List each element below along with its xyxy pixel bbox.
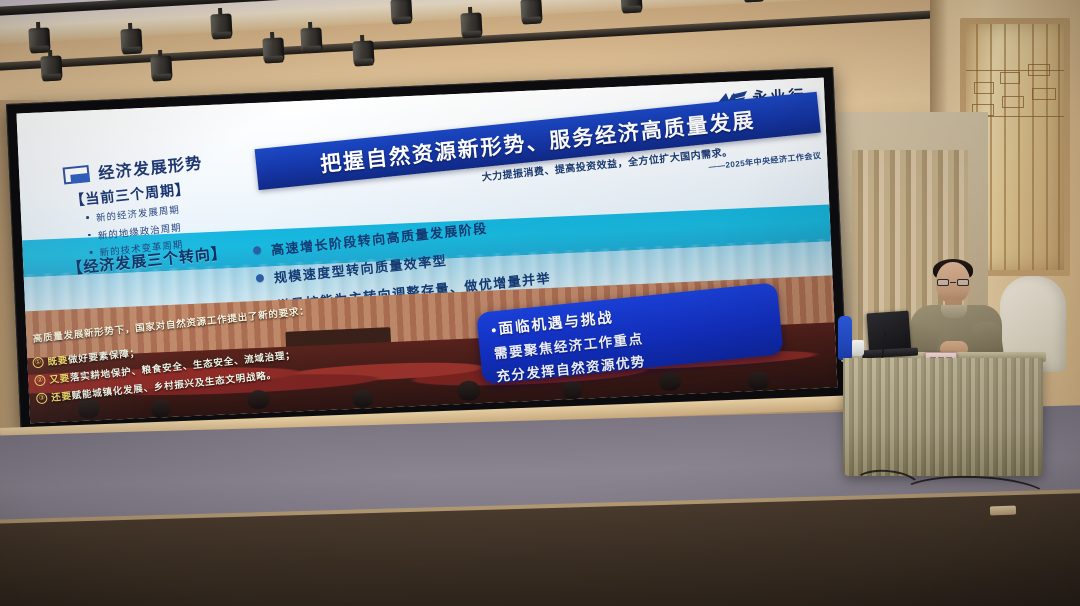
stage-light-icon: [210, 8, 232, 39]
presentation-slide: 永业行 REALHOM 把握自然资源新形势、服务经济高质量发展 大力提振消费、提…: [16, 78, 837, 424]
stage-light-icon: [742, 0, 764, 2]
paper-cup: [852, 340, 864, 356]
stage-light-icon: [390, 0, 412, 23]
stage-light-icon: [40, 49, 62, 80]
stage-light-icon: [150, 49, 172, 80]
callout-bullet-icon: [492, 328, 496, 332]
overlay-item-number: ①: [32, 356, 44, 368]
stage-light-icon: [120, 23, 142, 54]
stage-light-icon: [620, 0, 642, 12]
speaker-person: [900, 262, 1020, 362]
led-screen-frame: 永业行 REALHOM 把握自然资源新形势、服务经济高质量发展 大力提振消费、提…: [6, 67, 848, 434]
overlay-item-number: ③: [36, 392, 48, 404]
led-screen-surface[interactable]: 永业行 REALHOM 把握自然资源新形势、服务经济高质量发展 大力提振消费、提…: [16, 78, 837, 424]
stage-light-icon: [460, 6, 482, 37]
section-marker-icon: [62, 164, 90, 184]
stage-light-icon: [352, 34, 374, 65]
overlay-item-emphasis: 还要: [51, 391, 73, 404]
stage-light-icon: [520, 0, 542, 24]
stage-light-icon: [262, 31, 284, 62]
table-skirt: [843, 358, 1043, 476]
overlay-item-emphasis: 又要: [49, 373, 71, 386]
eyeglasses-icon: [937, 279, 969, 286]
overlay-item-number: ②: [34, 374, 46, 386]
photo-scene: 永业行 REALHOM 把握自然资源新形势、服务经济高质量发展 大力提振消费、提…: [0, 0, 1080, 606]
speaker-collar: [941, 305, 967, 318]
overlay-item-emphasis: 既要: [47, 355, 69, 368]
water-bottle: [838, 316, 852, 360]
stage-light-icon: [300, 21, 322, 52]
stage-light-icon: [28, 22, 50, 53]
